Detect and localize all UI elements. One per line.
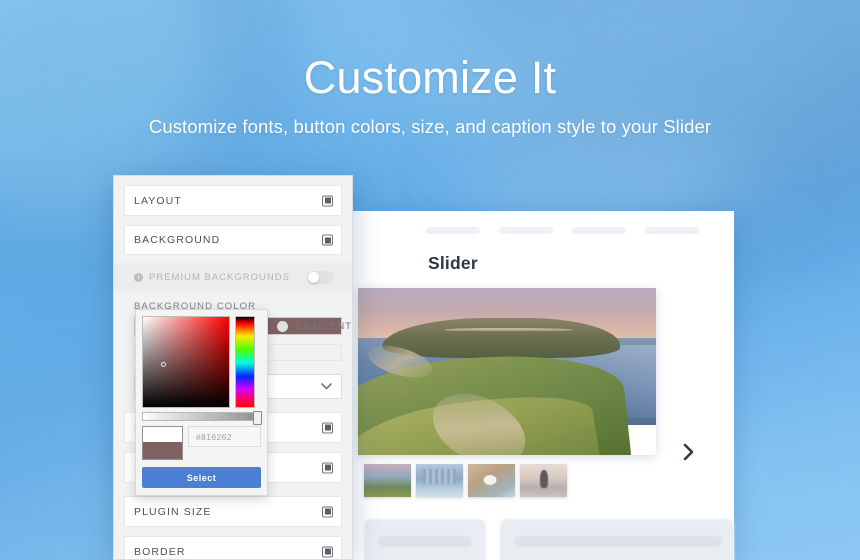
color-preview <box>142 426 183 460</box>
preview-panel: Slider <box>352 211 734 560</box>
expand-icon[interactable] <box>322 195 333 206</box>
section-label: PLUGIN SIZE <box>134 506 211 518</box>
preview-cards <box>364 519 734 560</box>
color-picker-popover[interactable]: #816262 Select <box>135 309 268 496</box>
sidebar-section-plugin-size[interactable]: PLUGIN SIZE <box>124 496 342 527</box>
premium-label-group: i PREMIUM BACKGROUNDS <box>134 272 290 283</box>
expand-glyph <box>325 549 331 555</box>
gradient-option[interactable]: GRADIENT <box>277 321 352 332</box>
preview-nav-placeholders <box>352 211 734 234</box>
nav-placeholder <box>426 227 480 234</box>
select-button[interactable]: Select <box>142 467 261 488</box>
thumbnail-coast[interactable] <box>364 464 411 497</box>
expand-glyph <box>325 237 331 243</box>
expand-icon[interactable] <box>322 546 333 557</box>
hue-slider[interactable] <box>235 316 255 408</box>
color-preview-old <box>143 442 182 459</box>
alpha-slider[interactable] <box>142 412 261 421</box>
card-placeholder-bar <box>514 536 722 547</box>
thumbnail-city[interactable] <box>416 464 463 497</box>
expand-icon[interactable] <box>322 422 333 433</box>
thumbnail-food[interactable] <box>468 464 515 497</box>
expand-glyph <box>325 198 331 204</box>
thumbnail-strip[interactable] <box>364 464 734 497</box>
page-title: Customize It <box>0 54 860 101</box>
premium-label: PREMIUM BACKGROUNDS <box>149 272 290 283</box>
premium-toggle-switch[interactable] <box>307 271 334 284</box>
expand-icon[interactable] <box>322 235 333 246</box>
premium-backgrounds-row[interactable]: i PREMIUM BACKGROUNDS <box>114 263 352 291</box>
thumbnail-person[interactable] <box>520 464 567 497</box>
sidebar-section-layout[interactable]: LAYOUT <box>124 185 342 216</box>
sidebar-section-background[interactable]: BACKGROUND <box>124 225 342 255</box>
saturation-gradient[interactable] <box>142 316 230 408</box>
preview-card <box>500 519 734 560</box>
saturation-handle[interactable] <box>161 362 166 367</box>
nav-placeholder <box>499 227 553 234</box>
expand-icon[interactable] <box>322 462 333 473</box>
chevron-right-icon <box>682 443 695 461</box>
expand-glyph <box>325 509 331 515</box>
slider-area <box>358 288 734 560</box>
slider-image <box>358 288 656 455</box>
card-placeholder-bar <box>378 536 472 547</box>
picker-middle: #816262 <box>142 426 261 460</box>
nav-placeholder <box>645 227 699 234</box>
section-label: BACKGROUND <box>134 234 220 246</box>
cliff-layer <box>444 328 573 331</box>
section-label: LAYOUT <box>134 195 182 207</box>
nav-placeholder <box>572 227 626 234</box>
sidebar-section-border[interactable]: BORDER <box>124 536 342 560</box>
hex-input[interactable]: #816262 <box>188 426 261 447</box>
slider-next-button[interactable] <box>676 440 700 464</box>
color-preview-new <box>143 427 182 442</box>
section-label: BORDER <box>134 546 186 558</box>
expand-glyph <box>325 425 331 431</box>
gradient-label: GRADIENT <box>295 321 352 332</box>
chevron-down-icon <box>321 383 332 390</box>
settings-sidebar: LAYOUT BACKGROUND i PREMIUM BACKGROUNDS … <box>113 175 353 560</box>
preview-heading: Slider <box>428 253 734 274</box>
page-subtitle: Customize fonts, button colors, size, an… <box>0 116 860 138</box>
expand-icon[interactable] <box>322 506 333 517</box>
hero-section: Customize It Customize fonts, button col… <box>0 54 860 138</box>
preview-card <box>364 519 486 560</box>
expand-glyph <box>325 465 331 471</box>
info-icon: i <box>134 273 143 282</box>
radio-button[interactable] <box>277 321 288 332</box>
picker-top <box>142 316 261 408</box>
